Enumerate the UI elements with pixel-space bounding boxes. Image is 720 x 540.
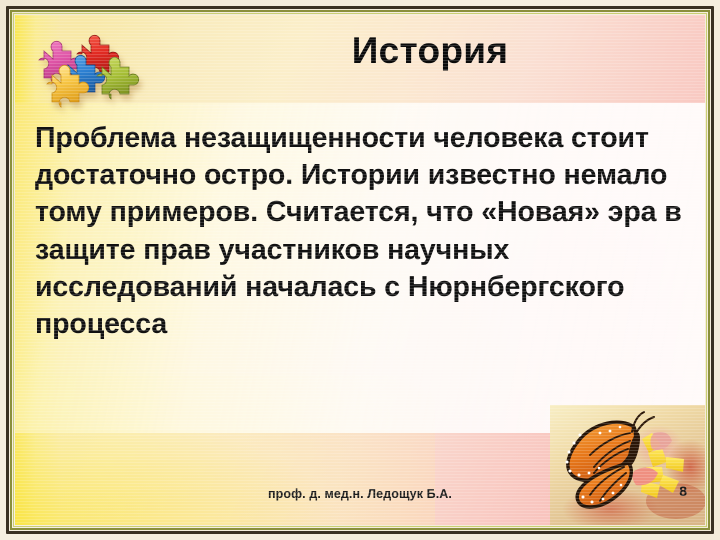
slide-body-text: Проблема незащищенности человека стоит д… xyxy=(35,120,683,343)
footer-author-attribution: проф. д. мед.н. Ледощук Б.А. xyxy=(15,487,705,501)
monarch-butterfly-on-flowers-photo xyxy=(550,405,705,525)
presentation-slide: История Проблема незащищенности человека… xyxy=(0,0,720,540)
slide-canvas: История Проблема незащищенности человека… xyxy=(15,15,705,525)
jigsaw-puzzle-pieces-icon xyxy=(25,23,155,123)
slide-title: История xyxy=(165,31,695,72)
slide-page-number: 8 xyxy=(679,483,687,499)
